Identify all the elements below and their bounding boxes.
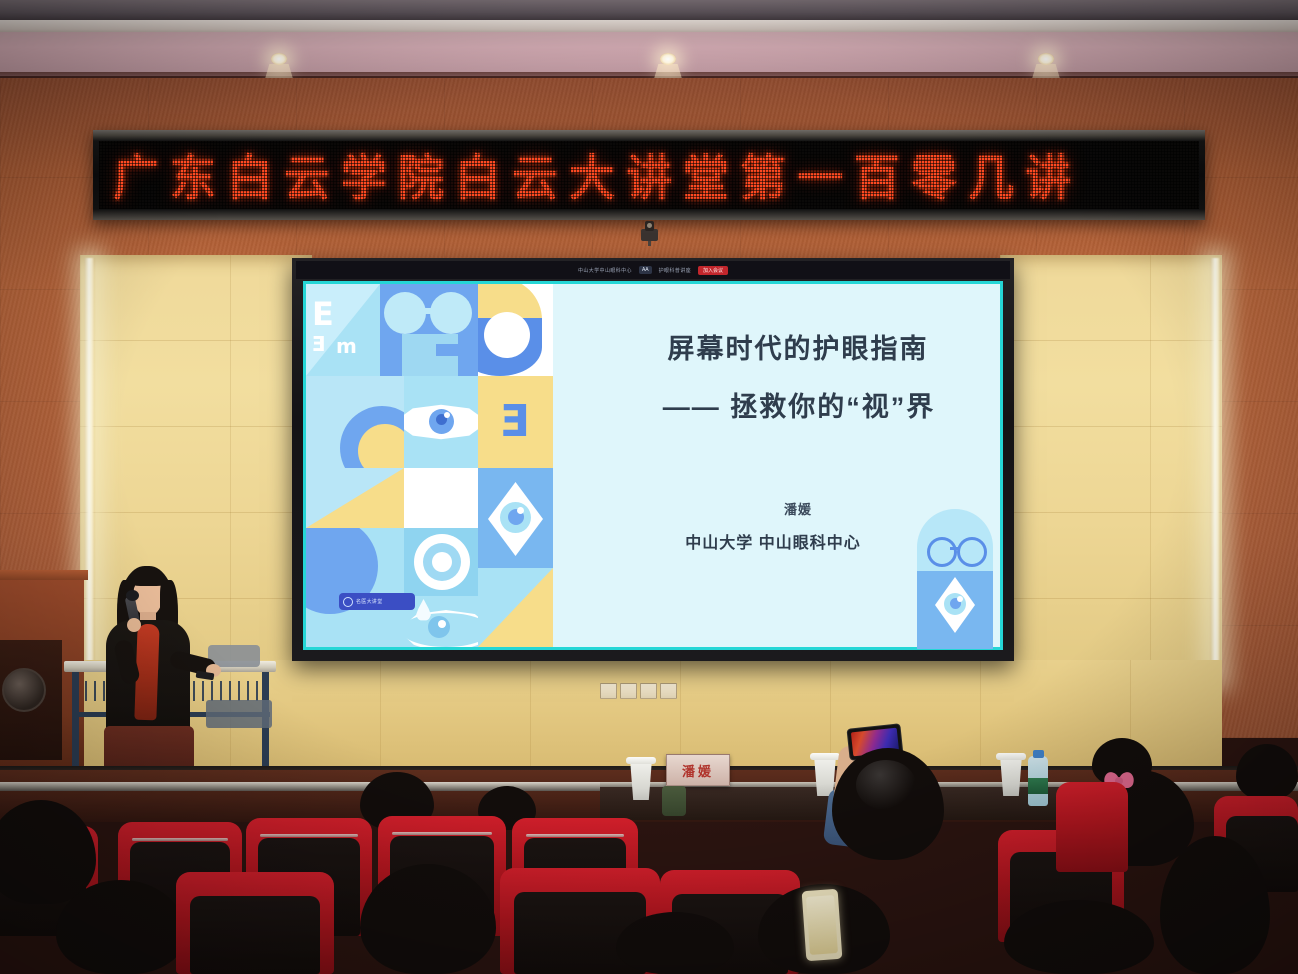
downlight-1	[271, 53, 287, 65]
collage-cell-eye-open	[404, 376, 478, 468]
collage-cell-eye-diamond	[478, 468, 553, 568]
wall-recess-left	[80, 255, 312, 685]
ceiling-soffit	[0, 32, 1298, 76]
wall-outlet-4[interactable]	[660, 683, 677, 699]
slide-organization: 中山大学 中山眼科中心	[553, 529, 993, 553]
wall-outlet-1[interactable]	[600, 683, 617, 699]
collage-cell-blue-quarter	[306, 528, 404, 647]
wall-outlet-2[interactable]	[620, 683, 637, 699]
seat-r2-0-inner	[190, 896, 320, 974]
seat-side-right-1[interactable]	[1056, 782, 1128, 872]
podium-top	[0, 570, 88, 580]
nameplate-text: 潘媛	[682, 761, 714, 780]
badge-eye-icon	[343, 597, 353, 607]
collage-cell-white	[404, 468, 478, 528]
podium-speaker-grille	[2, 668, 46, 712]
collage-cell-arc-yellow	[478, 284, 553, 376]
slide-canvas: E E m	[303, 281, 1003, 650]
camera-glass	[647, 223, 652, 228]
audience-head-7	[616, 912, 734, 974]
collage-cell-yellow-corner	[478, 568, 553, 647]
paper-cup-lid-2	[810, 753, 840, 760]
presentation-toolbar[interactable]: 中山大学中山眼科中心 AA 护眼科普讲座 加入会议	[296, 261, 1010, 279]
downlight-2	[660, 53, 676, 65]
collage-cell-arc-blue	[306, 376, 404, 468]
audience-head-5	[1004, 900, 1154, 974]
wall-outlet-3[interactable]	[640, 683, 657, 699]
slide-title: 屏幕时代的护眼指南	[603, 327, 993, 366]
seat-r1-1-trim	[132, 838, 228, 841]
slide-right-accent	[1000, 281, 1003, 650]
badge-label: 名医大讲堂	[356, 598, 383, 605]
downlight-3	[1038, 53, 1054, 65]
wall-camera-icon	[641, 220, 658, 246]
collage-cell-eyechart-E: E	[478, 376, 553, 468]
presenter-left-hand	[127, 618, 141, 632]
table-leg-left	[72, 672, 79, 778]
seat-r1-2-trim	[260, 834, 358, 837]
slide-subtitle: —— 拯救你的“视”界	[603, 385, 995, 424]
lecture-hall-photo: 广东白云学院白云大讲堂第一百零几讲 中山大学中山眼科中心 AA 护眼科普讲座 加…	[0, 0, 1298, 974]
collage-cell-eye-target	[404, 528, 478, 647]
speaker-nameplate: 潘媛	[666, 754, 730, 786]
table-shelf	[206, 700, 272, 728]
light-strip-left	[84, 258, 95, 682]
slide-speaker-name: 潘媛	[603, 499, 993, 518]
wall-recess-right	[1000, 255, 1222, 685]
microphone-head	[126, 590, 139, 601]
toolbar-tool-label[interactable]: 护眼科普讲座	[659, 267, 691, 274]
audience-phone-2-screen	[806, 895, 838, 955]
paper-cup-lid-1	[626, 757, 656, 764]
toolbar-record-button[interactable]: 加入会议	[698, 266, 728, 275]
paper-cup-lid-3	[996, 753, 1026, 760]
collage-cell-glasses	[380, 284, 478, 376]
thermos-cup	[662, 786, 686, 816]
collage-cell-eyechart: E E m	[306, 284, 380, 376]
seat-r1-4-trim	[526, 834, 624, 837]
led-banner-text: 广东白云学院白云大讲堂第一百零几讲	[99, 141, 1082, 209]
led-banner: 广东白云学院白云大讲堂第一百零几讲	[99, 141, 1199, 209]
toolbar-chip[interactable]: AA	[639, 266, 652, 274]
audience-head-far-4	[1236, 744, 1298, 800]
light-strip-right	[1210, 258, 1221, 682]
seat-r1-3-trim	[392, 832, 492, 835]
toolbar-app-label: 中山大学中山眼科中心	[578, 267, 632, 274]
water-bottle-label	[1028, 778, 1048, 794]
collage-cell-yellow-tri	[306, 468, 404, 528]
slide-decorative-collage: E E m	[303, 281, 556, 650]
ceiling-upper-band	[0, 0, 1298, 22]
slide-logo-badge: 名医大讲堂	[339, 593, 415, 610]
water-bottle-cap	[1033, 750, 1044, 758]
audience-head-mid-1-highlight	[856, 760, 916, 810]
